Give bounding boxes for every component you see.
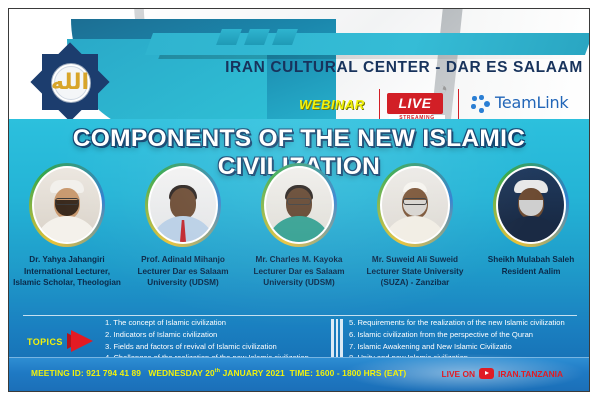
topics-arrow-shadow-icon	[67, 333, 83, 349]
speaker-card: Dr. Yahya Jahangiri International Lectur…	[9, 163, 125, 289]
speaker-card: Prof. Adinald Mihanjo Lecturer Dar es Sa…	[125, 163, 241, 289]
poster-footer: MEETING ID: 921 794 41 89 WEDNESDAY 20th…	[9, 357, 589, 391]
footer-time-value: 1600 - 1800 HRS (EAT)	[315, 368, 406, 378]
page-title: COMPONENTS OF THE NEW ISLAMIC CIVILIZATI…	[9, 125, 589, 181]
speaker-card: Sheikh Mulabah Saleh Resident Aalim	[473, 163, 589, 289]
speakers-row: Dr. Yahya Jahangiri International Lectur…	[9, 163, 589, 289]
topic-item: 7. Islamic Awakening and New Islamic Civ…	[349, 341, 579, 353]
avatar	[380, 166, 450, 244]
webinar-poster: الله IRAN CULTURAL CENTER - DAR ES SALAA…	[8, 8, 590, 392]
iran-emblem-logo: الله	[39, 51, 101, 113]
speaker-name: Mr. Charles M. Kayoka	[241, 254, 357, 266]
speaker-role-line2: Islamic Scholar, Theologian	[9, 277, 125, 289]
meeting-id-label: MEETING ID:	[31, 368, 84, 378]
avatar-ring	[493, 163, 569, 247]
poster-body: COMPONENTS OF THE NEW ISLAMIC CIVILIZATI…	[9, 119, 589, 357]
avatar	[496, 166, 566, 244]
poster-header: الله IRAN CULTURAL CENTER - DAR ES SALAA…	[9, 9, 589, 119]
speaker-role-line1: Lecturer Dar es Salaam	[241, 266, 357, 278]
speaker-role-line1: Resident Aalim	[473, 266, 589, 278]
avatar	[32, 166, 102, 244]
footer-date-ordinal: th	[215, 368, 220, 374]
teamlink-logo-icon	[471, 95, 491, 115]
footer-date-number: 20	[205, 368, 215, 378]
topic-item: 1. The concept of Islamic civilization	[105, 317, 320, 329]
speaker-role-line2: (SUZA) - Zanzibar	[357, 277, 473, 289]
speaker-name: Dr. Yahya Jahangiri	[9, 254, 125, 266]
speaker-role-line1: Lecturer Dar es Salaam	[125, 266, 241, 278]
topic-item: 2. Indicators of Islamic civilization	[105, 329, 320, 341]
organization-title: IRAN CULTURAL CENTER - DAR ES SALAAM	[224, 59, 584, 77]
footer-month-year: JANUARY 2021	[223, 368, 285, 378]
speaker-card: Mr. Suweid Ali Suweid Lecturer State Uni…	[357, 163, 473, 289]
footer-meeting-details: MEETING ID: 921 794 41 89 WEDNESDAY 20th…	[31, 368, 406, 378]
meeting-id-value: 921 794 41 89	[86, 368, 141, 378]
channel-name: IRAN.TANZANIA	[498, 369, 563, 379]
speaker-name: Prof. Adinald Mihanjo	[125, 254, 241, 266]
webinar-label: WEBINAR	[299, 97, 365, 112]
avatar-ring	[145, 163, 221, 247]
speaker-role-line1: International Lecturer,	[9, 266, 125, 278]
youtube-icon[interactable]	[479, 368, 494, 379]
emblem-glyph: الله	[39, 63, 101, 101]
footer-time-label: TIME:	[290, 368, 313, 378]
speaker-name: Sheikh Mulabah Saleh	[473, 254, 589, 266]
avatar-ring	[29, 163, 105, 247]
topic-item: 6. Islamic civilization from the perspec…	[349, 329, 579, 341]
header-teal-band	[145, 33, 589, 55]
avatar-ring	[377, 163, 453, 247]
topics-top-rule	[23, 315, 577, 316]
topics-label: TOPICS	[27, 337, 63, 347]
topics-arrow-icon	[71, 330, 93, 352]
topic-item: 5. Requirements for the realization of t…	[349, 317, 579, 329]
speaker-role-line1: Lecturer State University	[357, 266, 473, 278]
live-on-label: LIVE ON	[442, 369, 476, 379]
speaker-name: Mr. Suweid Ali Suweid	[357, 254, 473, 266]
topic-item: 3. Fields and factors of revival of Isla…	[105, 341, 320, 353]
footer-live-channel[interactable]: LIVE ONIRAN.TANZANIA	[442, 368, 564, 379]
teamlink-label: TeamLink	[495, 93, 568, 112]
speaker-role-line2: University (UDSM)	[125, 277, 241, 289]
avatar	[264, 166, 334, 244]
avatar	[148, 166, 218, 244]
footer-day: WEDNESDAY	[148, 368, 202, 378]
speaker-role-line2: University (UDSM)	[241, 277, 357, 289]
speaker-card: Mr. Charles M. Kayoka Lecturer Dar es Sa…	[241, 163, 357, 289]
avatar-ring	[261, 163, 337, 247]
